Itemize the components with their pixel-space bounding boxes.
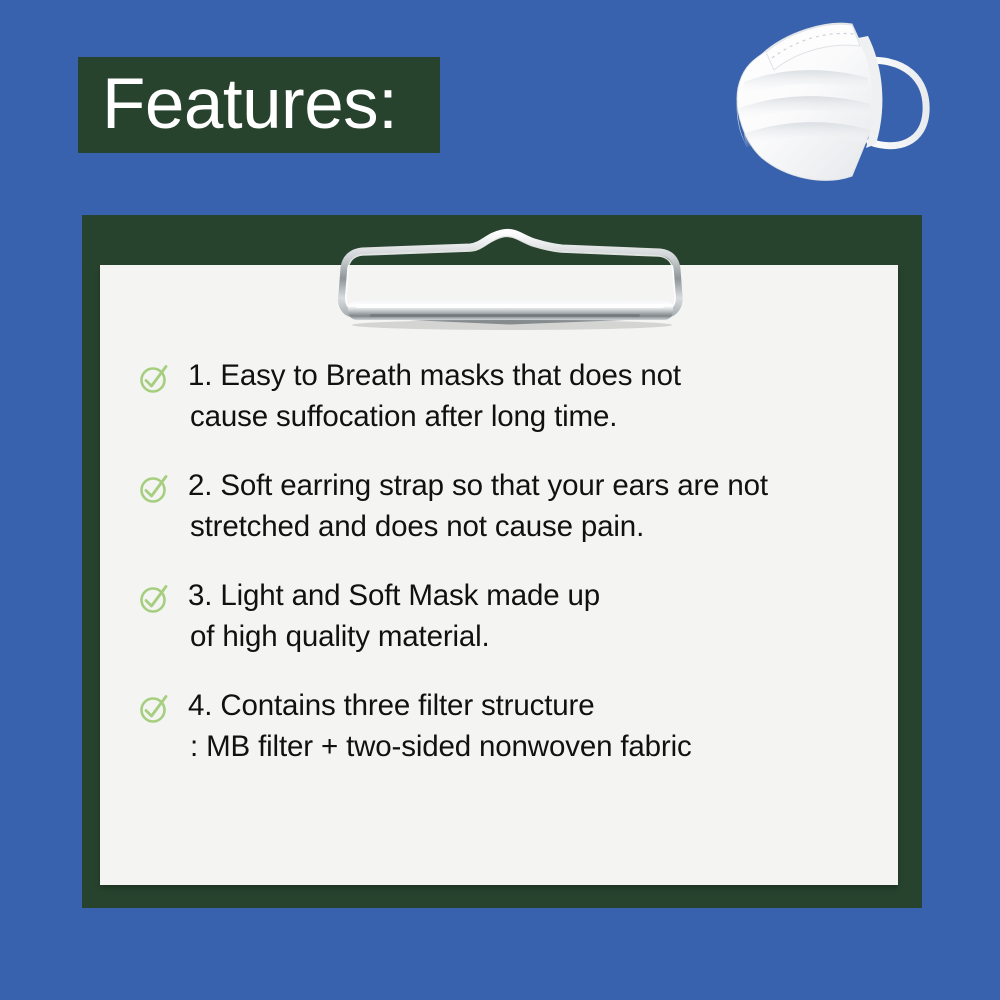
surgical-face-mask-image [700,8,950,198]
clipboard-clip-icon [330,222,690,332]
list-item-line-1: 4. Contains three filter structure [188,689,594,722]
features-list: 1. Easy to Breath masks that does not ca… [136,355,896,795]
list-item-line-2: : MB filter + two-sided nonwoven fabric [188,726,896,767]
list-item-text: 2. Soft earring strap so that your ears … [136,465,896,547]
check-circle-icon [138,583,170,615]
list-item-line-1: 2. Soft earring strap so that your ears … [188,469,768,502]
list-item-text: 3. Light and Soft Mask made up of high q… [136,575,896,657]
list-item: 3. Light and Soft Mask made up of high q… [136,575,896,657]
list-item-line-2: cause suffocation after long time. [188,396,896,437]
list-item-line-1: 3. Light and Soft Mask made up [188,579,600,612]
list-item: 1. Easy to Breath masks that does not ca… [136,355,896,437]
check-circle-icon [138,693,170,725]
list-item-line-1: 1. Easy to Breath masks that does not [188,359,681,392]
list-item: 4. Contains three filter structure : MB … [136,685,896,767]
list-item-text: 4. Contains three filter structure : MB … [136,685,896,767]
check-circle-icon [138,363,170,395]
list-item-line-2: of high quality material. [188,616,896,657]
list-item-text: 1. Easy to Breath masks that does not ca… [136,355,896,437]
page-title: Features: [102,56,432,154]
features-poster: Features: [0,0,1000,1000]
check-circle-icon [138,473,170,505]
list-item: 2. Soft earring strap so that your ears … [136,465,896,547]
list-item-line-2: stretched and does not cause pain. [188,506,896,547]
